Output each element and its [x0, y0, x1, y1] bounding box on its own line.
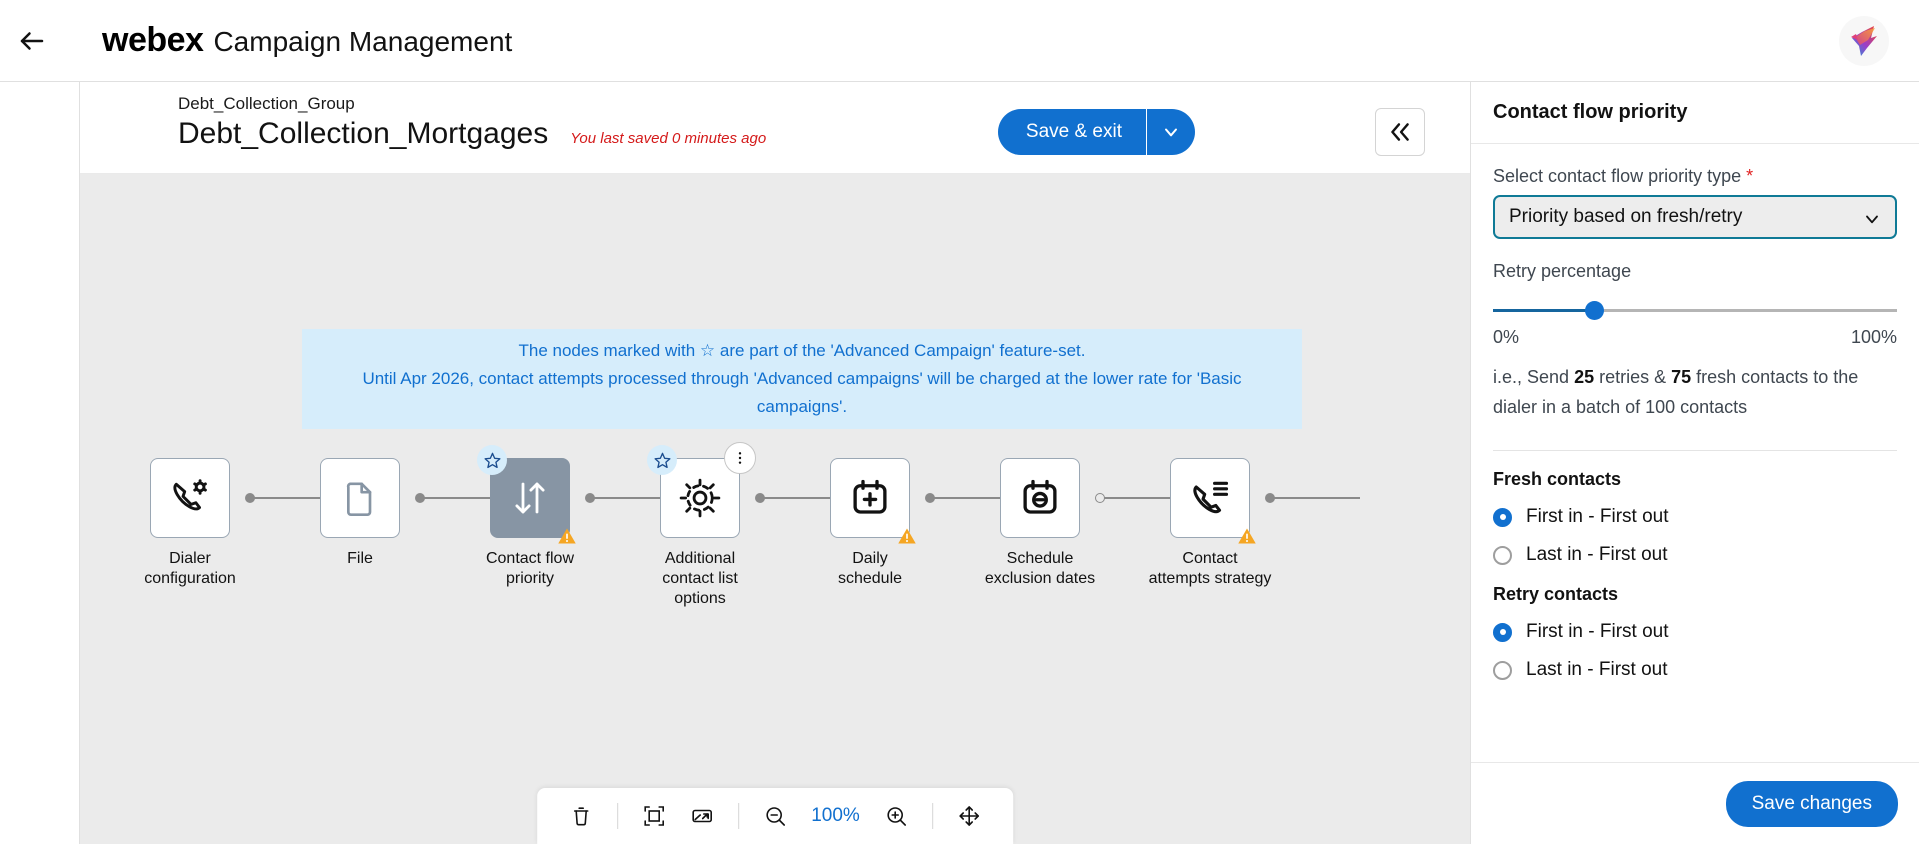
node-file[interactable]: File [280, 458, 440, 569]
star-icon [653, 451, 672, 470]
save-dropdown-button[interactable] [1147, 109, 1195, 155]
node-box[interactable] [320, 458, 400, 538]
node-label: Dailyschedule [790, 549, 950, 589]
connector-dot [1095, 493, 1105, 503]
retry-percentage-slider[interactable] [1493, 298, 1897, 324]
collapse-panel-button[interactable] [1375, 108, 1425, 156]
node-label: Additionalcontact listoptions [620, 549, 780, 609]
warning-icon [897, 526, 917, 546]
phone-list-icon [1188, 476, 1232, 520]
workspace: Debt_Collection_Group Debt_Collection_Mo… [80, 82, 1470, 844]
retry-radio-first-in-first-out[interactable]: First in - First out [1493, 621, 1897, 643]
panel-header: Contact flow priority [1471, 82, 1919, 144]
star-icon [483, 451, 502, 470]
panel-divider [1493, 450, 1897, 451]
back-button[interactable] [0, 0, 64, 82]
node-box[interactable] [1000, 458, 1080, 538]
retry-percentage-label: Retry percentage [1493, 261, 1897, 282]
slider-fill [1493, 309, 1594, 312]
node-box[interactable] [1170, 458, 1250, 538]
radio-label: First in - First out [1526, 621, 1669, 643]
warning-icon [1237, 526, 1257, 546]
phone-gear-icon [168, 476, 212, 520]
node-label: Dialerconfiguration [110, 549, 270, 589]
expand-icon [690, 804, 714, 828]
fit-to-screen-icon [642, 804, 666, 828]
connector-dot [415, 493, 425, 503]
saved-status-text: You last saved 0 minutes ago [570, 130, 766, 147]
slider-max-label: 100% [1851, 327, 1897, 348]
slider-min-label: 0% [1493, 327, 1519, 348]
node-contact-flow-priority[interactable]: Contact flowpriority [450, 458, 610, 589]
panel-body: Select contact flow priority type * Prio… [1471, 144, 1919, 762]
brand-webex-label: webex [102, 21, 203, 60]
zoom-in-button[interactable] [874, 794, 918, 838]
bird-avatar-icon [1841, 18, 1887, 64]
zoom-level-label[interactable]: 100% [801, 805, 870, 827]
toolbar-separator [932, 803, 933, 829]
back-arrow-icon [17, 26, 47, 56]
node-label: Contactattempts strategy [1130, 549, 1290, 589]
retry-contacts-title: Retry contacts [1493, 584, 1897, 605]
chevron-down-icon [1161, 122, 1181, 142]
panel-footer: Save changes [1471, 762, 1919, 844]
advanced-feature-badge [647, 445, 677, 475]
slider-thumb[interactable] [1585, 301, 1604, 320]
retry-hint-text: i.e., Send 25 retries & 75 fresh contact… [1493, 362, 1897, 422]
workspace-header: Debt_Collection_Group Debt_Collection_Mo… [80, 82, 1470, 174]
priority-type-label-text: Select contact flow priority type [1493, 166, 1741, 186]
chevron-down-icon [1862, 209, 1882, 229]
node-additional-contact-list-options[interactable]: Additionalcontact listoptions [620, 458, 780, 609]
calendar-plus-icon [849, 477, 891, 519]
fresh-contacts-title: Fresh contacts [1493, 469, 1897, 490]
page-title: Debt_Collection_Mortgages [178, 117, 548, 151]
node-box[interactable] [490, 458, 570, 538]
toolbar-separator [738, 803, 739, 829]
radio-label: First in - First out [1526, 506, 1669, 528]
hint-mid: retries & [1594, 367, 1671, 387]
save-and-exit-button[interactable]: Save & exit [998, 109, 1147, 155]
connector-7 [1270, 497, 1360, 499]
priority-type-label: Select contact flow priority type * [1493, 166, 1897, 187]
radio-label: Last in - First out [1526, 544, 1668, 566]
connector-dot [585, 493, 595, 503]
gear-icon [679, 477, 721, 519]
zoom-in-icon [884, 804, 908, 828]
left-rail [0, 82, 80, 844]
file-icon [340, 478, 380, 518]
priority-type-value: Priority based on fresh/retry [1509, 206, 1742, 228]
node-schedule-exclusion-dates[interactable]: Scheduleexclusion dates [960, 458, 1120, 589]
advanced-feature-badge [477, 445, 507, 475]
node-flow: Dialerconfiguration File [80, 174, 1470, 844]
toolbar-separator [617, 803, 618, 829]
warning-icon [557, 526, 577, 546]
panel-title: Contact flow priority [1493, 101, 1687, 124]
contact-flow-priority-panel: Contact flow priority Select contact flo… [1470, 82, 1919, 844]
radio-label: Last in - First out [1526, 659, 1668, 681]
radio-indicator [1493, 508, 1512, 527]
connector-line [1270, 497, 1360, 499]
required-asterisk: * [1746, 166, 1753, 186]
avatar[interactable] [1839, 16, 1889, 66]
zoom-out-icon [763, 804, 787, 828]
node-box[interactable] [830, 458, 910, 538]
app-name-label: Campaign Management [213, 26, 512, 58]
fresh-radio-first-in-first-out[interactable]: First in - First out [1493, 506, 1897, 528]
node-label: File [280, 549, 440, 569]
trash-icon [569, 804, 593, 828]
node-menu-button[interactable] [724, 442, 756, 474]
title-row: Debt_Collection_Mortgages You last saved… [178, 117, 766, 151]
connector-dot [925, 493, 935, 503]
expand-button[interactable] [680, 794, 724, 838]
connector-dot [245, 493, 255, 503]
brand: webex Campaign Management [102, 21, 512, 60]
priority-type-select[interactable]: Priority based on fresh/retry [1493, 195, 1897, 239]
save-changes-button[interactable]: Save changes [1726, 781, 1898, 827]
hint-fresh-count: 75 [1671, 367, 1691, 387]
connector-dot [1265, 493, 1275, 503]
top-bar: webex Campaign Management [0, 0, 1919, 82]
radio-indicator [1493, 661, 1512, 680]
radio-indicator [1493, 623, 1512, 642]
node-label: Contact flowpriority [450, 549, 610, 589]
node-daily-schedule[interactable]: Dailyschedule [790, 458, 950, 589]
hint-pre: i.e., Send [1493, 367, 1574, 387]
node-label: Scheduleexclusion dates [960, 549, 1120, 589]
arrows-up-down-icon [509, 477, 551, 519]
hint-retries-count: 25 [1574, 367, 1594, 387]
chevron-double-left-icon [1387, 119, 1413, 145]
calendar-minus-icon [1019, 477, 1061, 519]
move-pan-icon [957, 804, 981, 828]
radio-indicator [1493, 546, 1512, 565]
pan-button[interactable] [947, 794, 991, 838]
more-vertical-icon [732, 450, 748, 466]
node-contact-attempts-strategy[interactable]: Contactattempts strategy [1130, 458, 1290, 589]
fit-to-screen-button[interactable] [632, 794, 676, 838]
node-box[interactable] [660, 458, 740, 538]
canvas-toolbar: 100% [537, 788, 1013, 844]
zoom-out-button[interactable] [753, 794, 797, 838]
breadcrumb[interactable]: Debt_Collection_Group [178, 94, 355, 114]
delete-button[interactable] [559, 794, 603, 838]
fresh-radio-last-in-first-out[interactable]: Last in - First out [1493, 544, 1897, 566]
node-box[interactable] [150, 458, 230, 538]
node-dialer-configuration[interactable]: Dialerconfiguration [110, 458, 270, 589]
slider-range-labels: 0% 100% [1493, 327, 1897, 348]
connector-dot [755, 493, 765, 503]
retry-radio-last-in-first-out[interactable]: Last in - First out [1493, 659, 1897, 681]
save-and-exit-group[interactable]: Save & exit [998, 109, 1195, 155]
flow-canvas[interactable]: The nodes marked with ☆ are part of the … [80, 174, 1470, 844]
